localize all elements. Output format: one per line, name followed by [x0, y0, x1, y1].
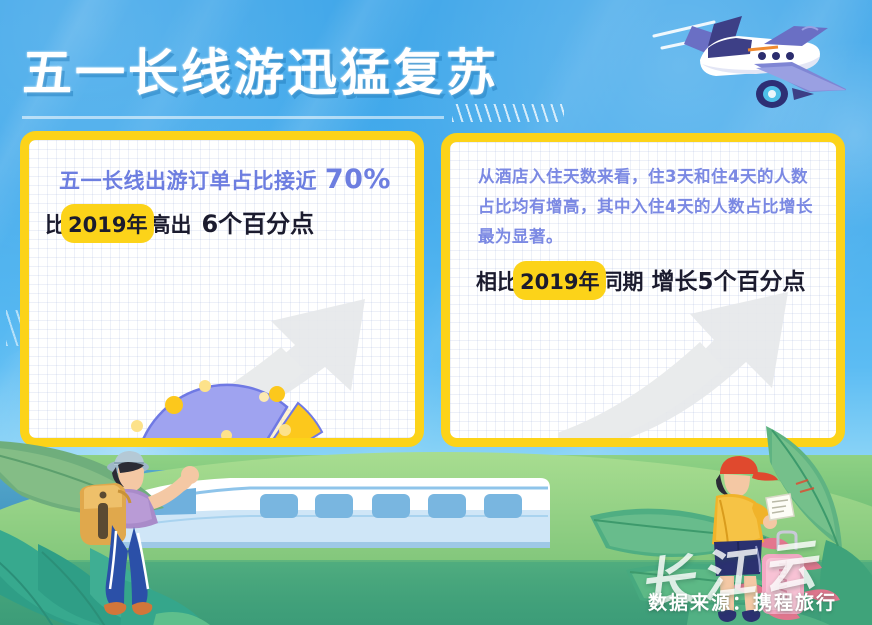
traveler-with-backpack-illustration: [62, 447, 212, 622]
right-card-subline: 相比2019年同期增长5个百分点: [476, 262, 805, 296]
title-underline: [22, 116, 444, 119]
right-card-paragraph: 从酒店入住天数来看，住3天和住4天的人数占比均有增高，其中入住4天的人数占比增长…: [478, 162, 822, 252]
decor-dot: [269, 386, 285, 402]
infographic-canvas: 五一长线游迅猛复苏 6% 五一长线出游订单占比接近 70% 比2019年高出6个…: [0, 0, 872, 625]
right-subline-prefix: 相比: [476, 270, 518, 294]
decor-dot: [165, 396, 183, 414]
left-headline-value: 70%: [325, 164, 391, 195]
left-subline-emphasis: 6个百分点: [201, 210, 314, 238]
title-hatch-decoration: [452, 104, 564, 122]
left-stat-card: 6% 五一长线出游订单占比接近 70% 比2019年高出6个百分点 70%: [20, 131, 424, 447]
page-title: 五一长线游迅猛复苏: [22, 48, 499, 98]
right-subline-emphasis: 增长5个百分点: [651, 269, 805, 295]
airplane-icon: [596, 8, 846, 128]
left-headline-text: 五一长线出游订单占比接近: [59, 169, 325, 193]
left-subline-middle: 高出: [149, 213, 191, 237]
left-subline-highlight: 2019年: [66, 209, 149, 239]
decor-dot: [259, 392, 269, 402]
left-card-subline: 比2019年高出6个百分点: [45, 204, 314, 239]
decor-dot: [199, 380, 211, 392]
right-subline-highlight: 2019年: [518, 266, 601, 296]
data-source-label: 数据来源：携程旅行: [648, 588, 837, 615]
right-subline-middle: 同期: [601, 270, 643, 294]
right-stat-card: 5% 从酒店入住天数来看，住3天和住4天的人数占比均有增高，其中入住4天的人数占…: [441, 133, 845, 447]
left-card-headline: 五一长线出游订单占比接近 70%: [59, 164, 391, 195]
